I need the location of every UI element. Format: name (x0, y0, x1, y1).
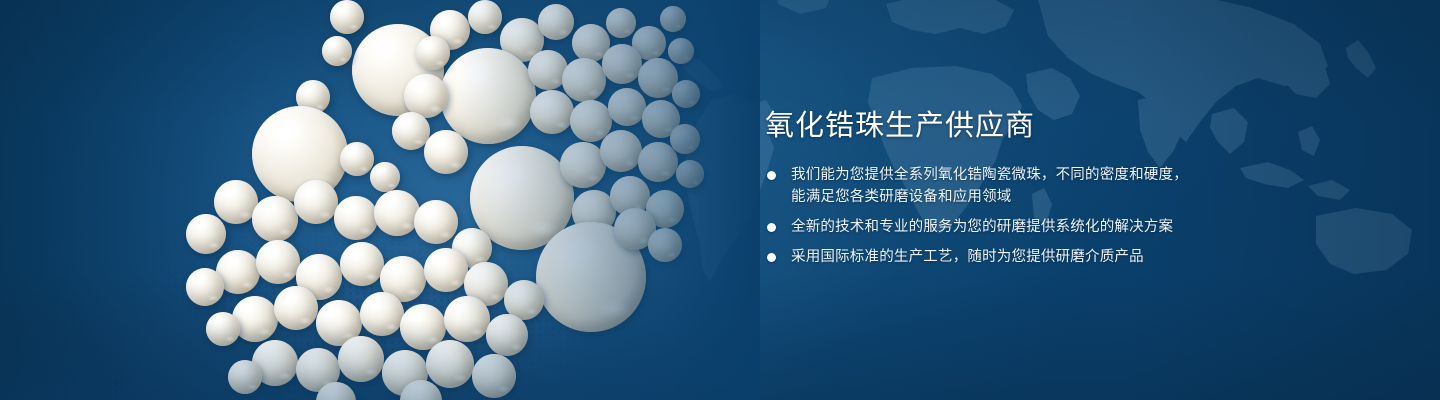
banner-copy: 氧化锆珠生产供应商 我们能为您提供全系列氧化锆陶瓷微珠，不同的密度和硬度， 能满… (765, 108, 1385, 268)
hero-banner: 氧化锆珠生产供应商 我们能为您提供全系列氧化锆陶瓷微珠，不同的密度和硬度， 能满… (0, 0, 1440, 400)
bullet-dot-icon (767, 253, 776, 262)
benefit-item-3-line-1: 采用国际标准的生产工艺，随时为您提供研磨介质产品 (791, 246, 1385, 268)
benefit-item-2-line-1: 全新的技术和专业的服务为您的研磨提供系统化的解决方案 (791, 216, 1385, 238)
bullet-dot-icon (767, 223, 776, 232)
bullet-dot-icon (767, 171, 776, 180)
benefit-item-1: 我们能为您提供全系列氧化锆陶瓷微珠，不同的密度和硬度， 能满足您各类研磨设备和应… (765, 164, 1385, 208)
benefits-list: 我们能为您提供全系列氧化锆陶瓷微珠，不同的密度和硬度， 能满足您各类研磨设备和应… (765, 164, 1385, 268)
benefit-item-1-line-2: 能满足您各类研磨设备和应用领域 (791, 186, 1385, 208)
benefit-item-1-line-1: 我们能为您提供全系列氧化锆陶瓷微珠，不同的密度和硬度， (791, 164, 1385, 186)
benefit-item-3: 采用国际标准的生产工艺，随时为您提供研磨介质产品 (765, 246, 1385, 268)
banner-headline: 氧化锆珠生产供应商 (765, 108, 1385, 144)
benefit-item-2: 全新的技术和专业的服务为您的研磨提供系统化的解决方案 (765, 216, 1385, 238)
